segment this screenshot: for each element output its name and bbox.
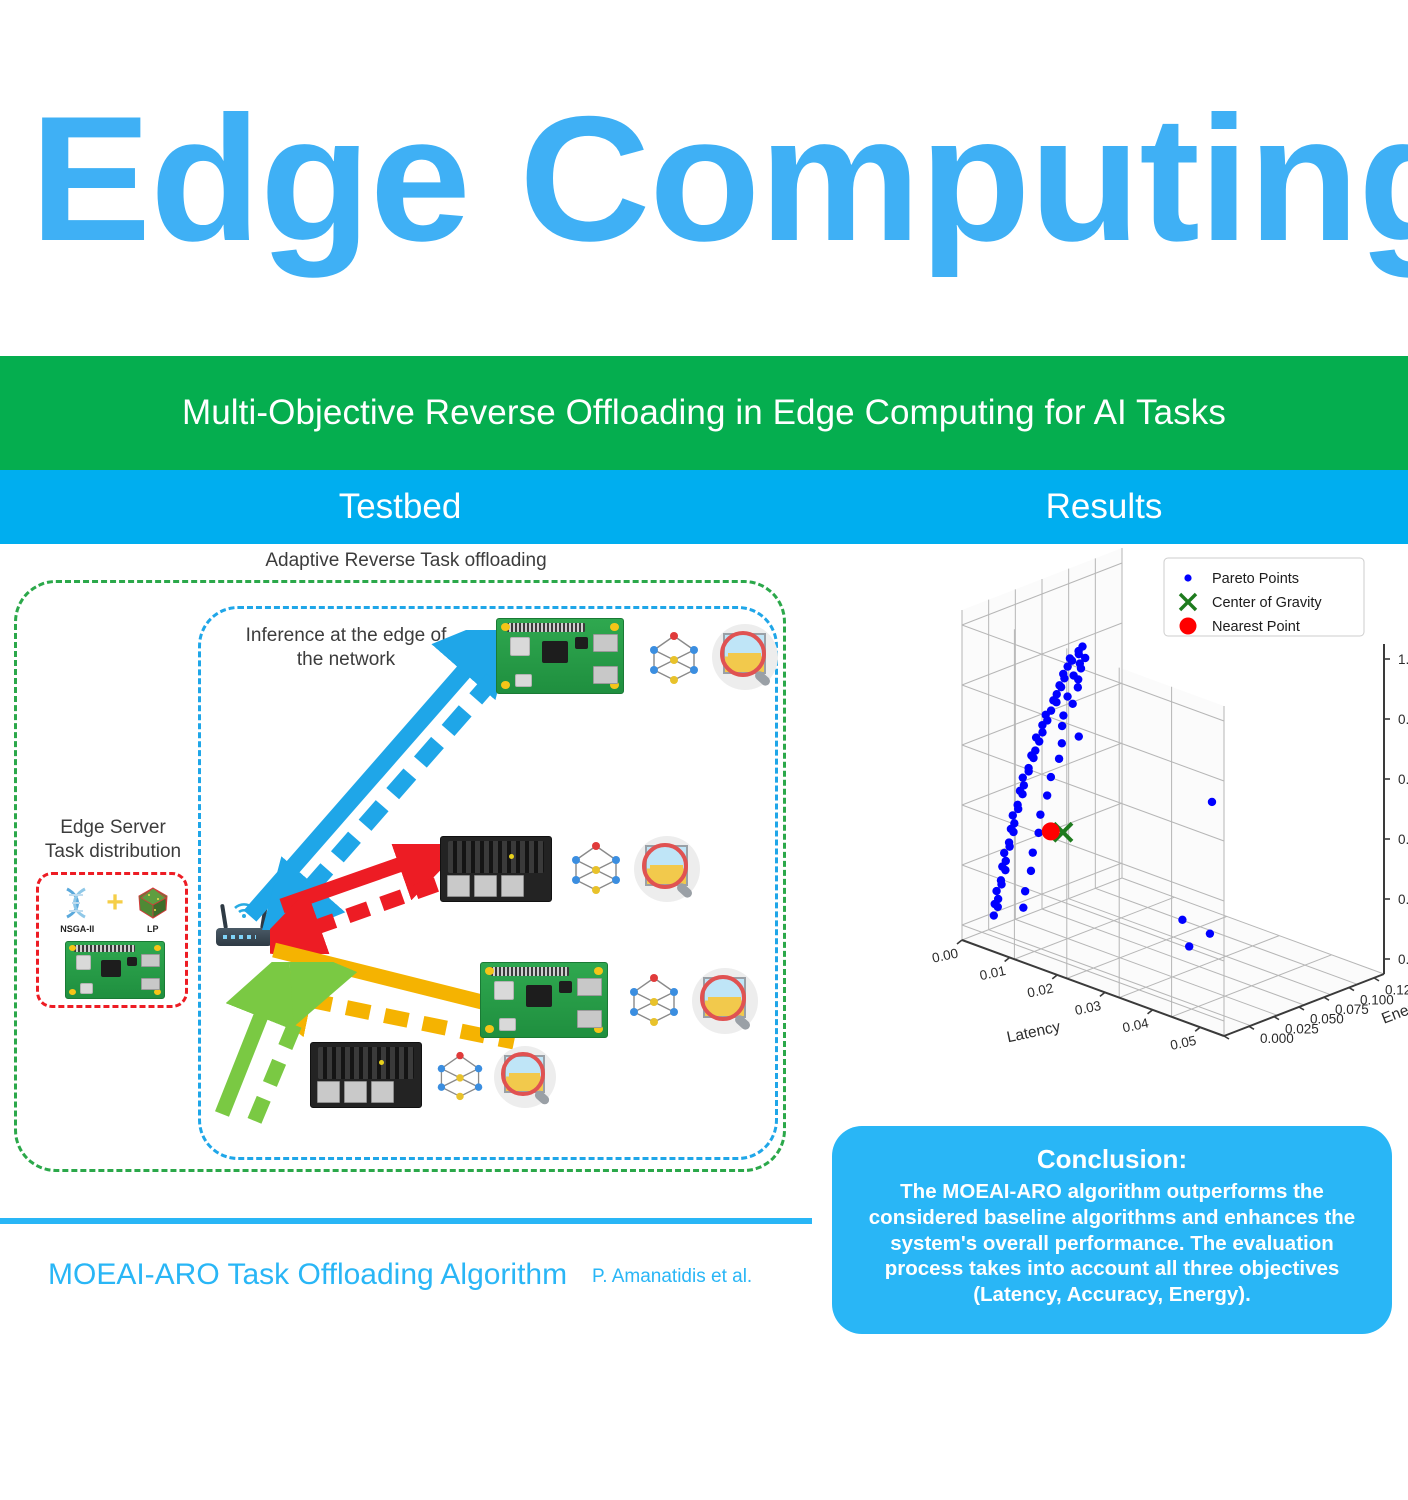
paper-title: Multi-Objective Reverse Offloading in Ed… [182,393,1226,433]
svg-text:0.01: 0.01 [978,963,1007,983]
jetson-nano-middle [440,836,552,902]
svg-text:Nearest Point: Nearest Point [1212,619,1300,635]
title-band: Edge Computing [0,0,1408,352]
raspberry-pi-edge-server [65,941,165,999]
svg-text:Pareto Points: Pareto Points [1212,571,1299,587]
conclusion-body: The MOEAI-ARO algorithm outperforms the … [850,1179,1374,1308]
jetson-nano-bottom [310,1042,422,1108]
section-label-testbed: Testbed [0,470,800,544]
raspberry-pi-bottom [480,962,608,1038]
svg-text:0.125: 0.125 [1385,983,1408,998]
svg-text:0.6: 0.6 [1398,772,1408,787]
image-inference-icon-3 [692,968,758,1034]
svg-text:0.8: 0.8 [1398,712,1408,727]
results-panel: 0.000.010.020.030.040.05Latency0.0000.02… [812,548,1408,1068]
polytope-icon [128,883,178,923]
svg-text:1.0: 1.0 [1398,652,1408,667]
section-banner: Testbed Results [0,470,1408,544]
svg-text:0.03: 0.03 [1074,998,1103,1018]
edge-server-line1: Edge Server [60,817,166,838]
svg-text:0.05: 0.05 [1169,1033,1198,1053]
section-label-results: Results [800,470,1408,544]
svg-text:0.00: 0.00 [931,946,960,966]
edge-server-line2: Task distribution [45,841,181,862]
svg-text:0.02: 0.02 [1026,980,1055,1000]
testbed-panel: Adaptive Reverse Task offloading Inferen… [0,544,812,1204]
footer-divider [0,1218,812,1224]
algorithm-nsga2: NSGA-II [52,883,102,934]
diagram-title: Adaptive Reverse Task offloading [0,550,812,572]
neural-network-icon-4 [434,1050,486,1102]
paper-title-banner: Multi-Objective Reverse Offloading in Ed… [0,356,1408,470]
image-inference-icon-1 [712,624,778,690]
svg-text:Center of Gravity: Center of Gravity [1212,595,1322,611]
edge-server-label: Edge Server Task distribution [28,816,198,864]
image-inference-icon-4 [494,1046,556,1108]
svg-text:Latency: Latency [1005,1018,1062,1046]
svg-text:0.04: 0.04 [1121,1015,1150,1035]
footer-authors: P. Amanatidis et al. [592,1266,752,1288]
svg-text:0.2: 0.2 [1398,892,1408,907]
neural-network-icon-1 [646,630,702,686]
algorithm-lp: LP [128,883,178,934]
svg-text:0.4: 0.4 [1398,832,1408,847]
algorithm-row: NSGA-II + LP [39,883,191,934]
plus-icon: + [106,883,124,923]
edge-server-box: NSGA-II + LP [36,872,188,1008]
algorithm-lp-label: LP [128,924,178,934]
page-title: Edge Computing [30,90,1408,268]
footer-algorithm-name: MOEAI-ARO Task Offloading Algorithm [48,1258,567,1292]
algorithm-nsga2-label: NSGA-II [52,924,102,934]
dna-helix-icon [52,883,102,923]
svg-text:0.0: 0.0 [1398,952,1408,967]
image-inference-icon-2 [634,836,700,902]
conclusion-heading: Conclusion: [850,1144,1374,1175]
conclusion-box: Conclusion: The MOEAI-ARO algorithm outp… [832,1126,1392,1334]
raspberry-pi-top [496,618,624,694]
pareto-3d-scatter-plot: 0.000.010.020.030.040.05Latency0.0000.02… [812,548,1408,1068]
neural-network-icon-2 [568,840,624,896]
neural-network-icon-3 [626,972,682,1028]
